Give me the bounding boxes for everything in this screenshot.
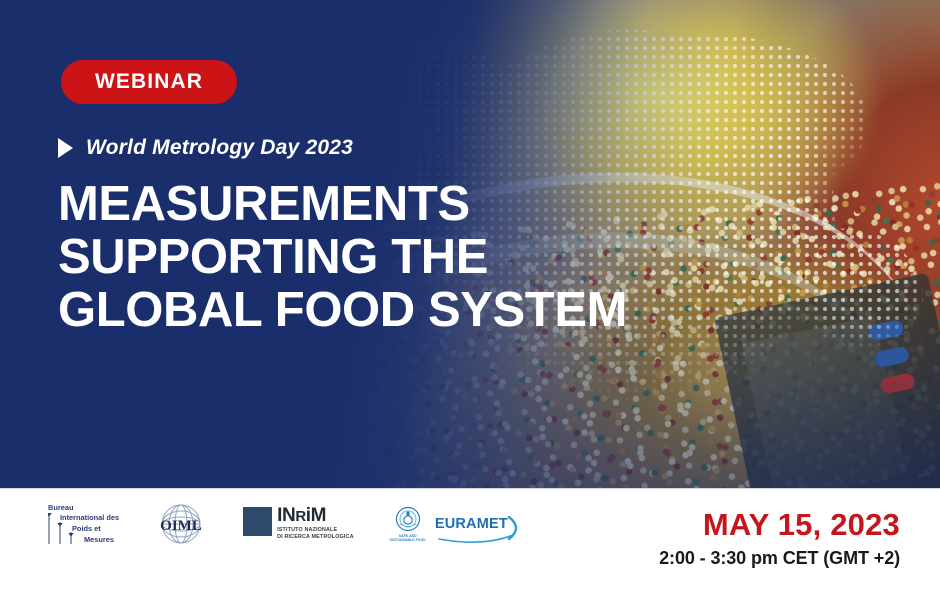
inrim-textblock: INRiM ISTITUTO NAZIONALE DI RICERCA METR… [277,507,353,540]
logo-oiml: OIML [155,501,207,547]
logo-euramet: SAFE AND SUSTAINABLE FOOD EURAMET [390,506,508,543]
euramet-circle-mark: SAFE AND SUSTAINABLE FOOD [390,506,426,543]
page-title: MEASUREMENTS SUPPORTING THE GLOBAL FOOD … [58,178,848,337]
webinar-badge-label: WEBINAR [95,70,203,94]
headline-line-2: SUPPORTING THE [58,231,848,284]
logo-inrim: INRiM ISTITUTO NAZIONALE DI RICERCA METR… [243,507,353,540]
play-triangle-icon [58,138,73,158]
inrim-subtitle-line-2: DI RICERCA METROLOGICA [277,534,353,540]
euramet-caption-line-1: SAFE AND [399,534,417,538]
hero-content: WEBINAR World Metrology Day 2023 MEASURE… [0,0,940,488]
footer: Bureau International des Poids et Mesure… [0,488,940,600]
partner-logos: Bureau International des Poids et Mesure… [48,501,508,547]
euramet-mark-caption: SAFE AND SUSTAINABLE FOOD [390,534,426,543]
webinar-badge: WEBINAR [61,60,237,104]
euramet-wordmark-wrap: EURAMET [435,516,508,532]
event-kicker-label: World Metrology Day 2023 [86,136,353,160]
inrim-subtitle-line-1: ISTITUTO NAZIONALE [277,527,337,533]
oiml-wordmark: OIML [160,518,202,534]
inrim-square-mark [243,507,272,536]
event-kicker: World Metrology Day 2023 [58,136,353,160]
logo-bipm: Bureau International des Poids et Mesure… [48,503,119,545]
headline-line-1: MEASUREMENTS [58,178,848,231]
event-time: 2:00 - 3:30 pm CET (GMT +2) [659,546,900,570]
bipm-textblock: Bureau International des Poids et Mesure… [48,503,119,545]
euramet-caption-line-2: SUSTAINABLE FOOD [390,538,426,542]
event-date: MAY 15, 2023 [659,507,900,543]
euramet-wordmark: EURAMET [435,516,508,532]
euramet-emblem-icon [395,506,421,532]
inrim-wordmark: INRiM [277,507,353,526]
webinar-banner: WEBINAR World Metrology Day 2023 MEASURE… [0,0,940,600]
event-datetime: MAY 15, 2023 2:00 - 3:30 pm CET (GMT +2) [659,507,900,570]
bipm-bracket-marks [48,512,88,546]
oiml-globe-icon: OIML [155,501,207,547]
headline-line-3: GLOBAL FOOD SYSTEM [58,284,848,337]
inrim-subtitle: ISTITUTO NAZIONALE DI RICERCA METROLOGIC… [277,527,353,540]
